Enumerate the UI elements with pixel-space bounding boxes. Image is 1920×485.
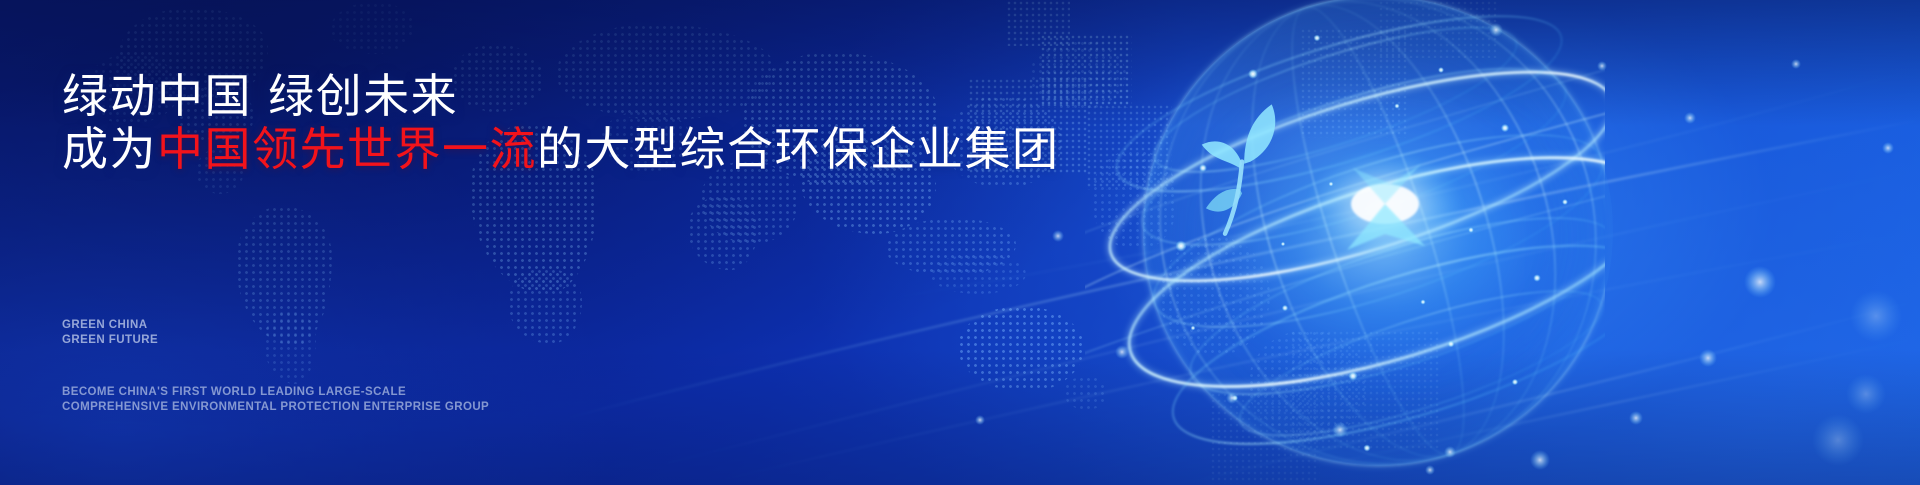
- subtitle-en-block: BECOME CHINA'S FIRST WORLD LEADING LARGE…: [62, 385, 489, 414]
- subtitle-en-line-2: COMPREHENSIVE ENVIRONMENTAL PROTECTION E…: [62, 400, 489, 415]
- headline-line-2: 成为中国领先世界一流的大型综合环保企业集团: [62, 123, 1062, 176]
- subtitle-en-line-1: BECOME CHINA'S FIRST WORLD LEADING LARGE…: [62, 385, 489, 400]
- headline-line-2-suffix: 的大型综合环保企业集团: [537, 122, 1060, 176]
- hero-banner: 绿动中国 绿创未来 成为中国领先世界一流的大型综合环保企业集团 GREEN CH…: [0, 0, 1920, 485]
- slogan-en-line-1: GREEN CHINA: [62, 318, 158, 333]
- headline-block: 绿动中国 绿创未来 成为中国领先世界一流的大型综合环保企业集团: [62, 70, 1062, 176]
- headline-line-2-prefix: 成为: [62, 122, 157, 176]
- headline-line-1: 绿动中国 绿创未来: [62, 70, 1062, 123]
- headline-line-2-highlight: 中国领先世界一流: [157, 122, 537, 176]
- slogan-en-line-2: GREEN FUTURE: [62, 333, 158, 348]
- slogan-en-block: GREEN CHINA GREEN FUTURE: [62, 318, 158, 347]
